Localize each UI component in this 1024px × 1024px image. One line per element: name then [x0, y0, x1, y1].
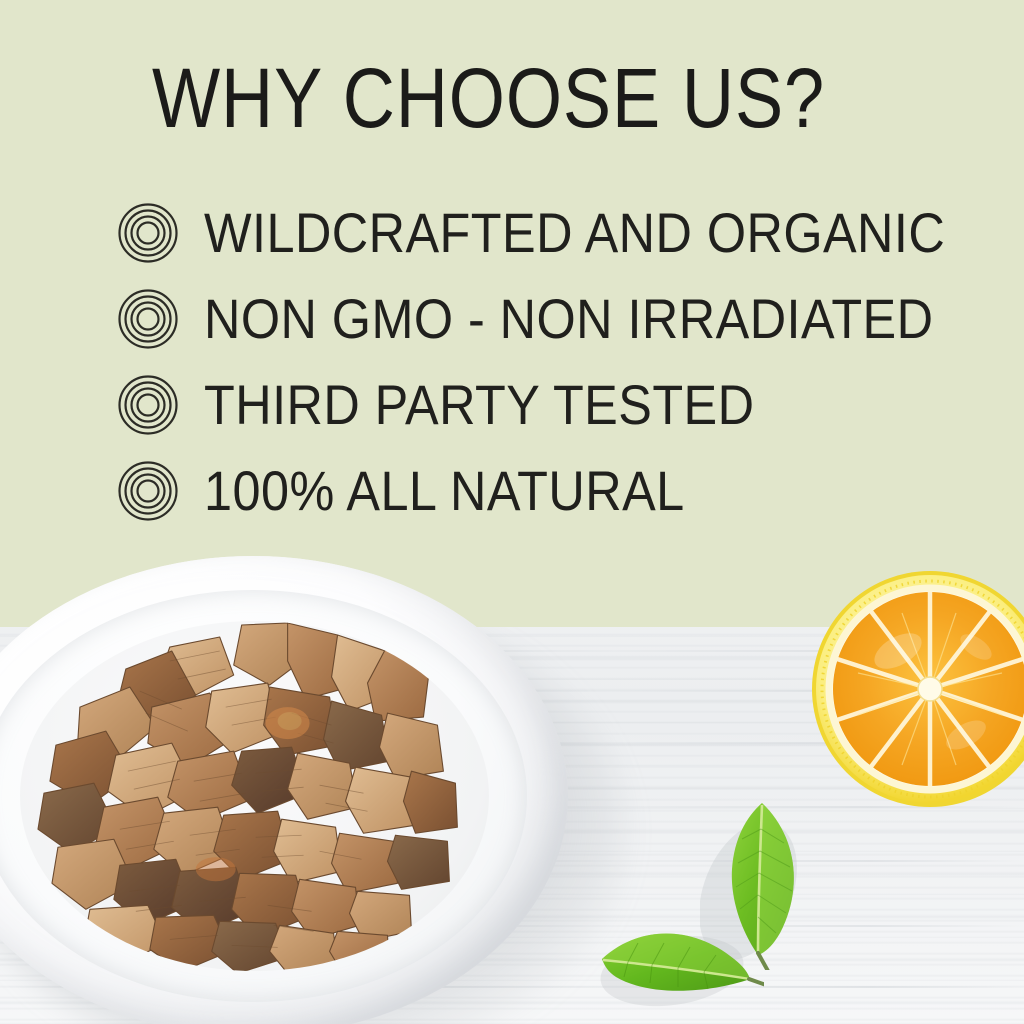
- citrus-leaf-lower: [594, 915, 764, 1024]
- concentric-rings-icon: [118, 375, 178, 435]
- concentric-rings-icon: [118, 203, 178, 263]
- list-item: WILDCRAFTED AND ORGANIC: [118, 190, 998, 276]
- list-item-label: NON GMO - NON IRRADIATED: [204, 291, 933, 347]
- concentric-rings-icon: [118, 289, 178, 349]
- list-item: THIRD PARTY TESTED: [118, 362, 998, 448]
- page-title: WHY CHOOSE US?: [152, 56, 825, 140]
- list-item-label: WILDCRAFTED AND ORGANIC: [204, 205, 945, 261]
- concentric-rings-icon: [118, 461, 178, 521]
- lemon-slice-image: [806, 565, 1024, 813]
- list-item: 100% ALL NATURAL: [118, 448, 998, 534]
- list-item-label: 100% ALL NATURAL: [204, 463, 685, 519]
- promo-graphic: WHY CHOOSE US? WILDCRAFTED AND ORGANIC: [0, 0, 1024, 1024]
- info-panel: WHY CHOOSE US? WILDCRAFTED AND ORGANIC: [0, 0, 1024, 627]
- bark-chips-fill: [20, 621, 489, 971]
- feature-list: WILDCRAFTED AND ORGANIC NON GMO - NON IR…: [118, 190, 998, 534]
- list-item: NON GMO - NON IRRADIATED: [118, 276, 998, 362]
- list-item-label: THIRD PARTY TESTED: [204, 377, 754, 433]
